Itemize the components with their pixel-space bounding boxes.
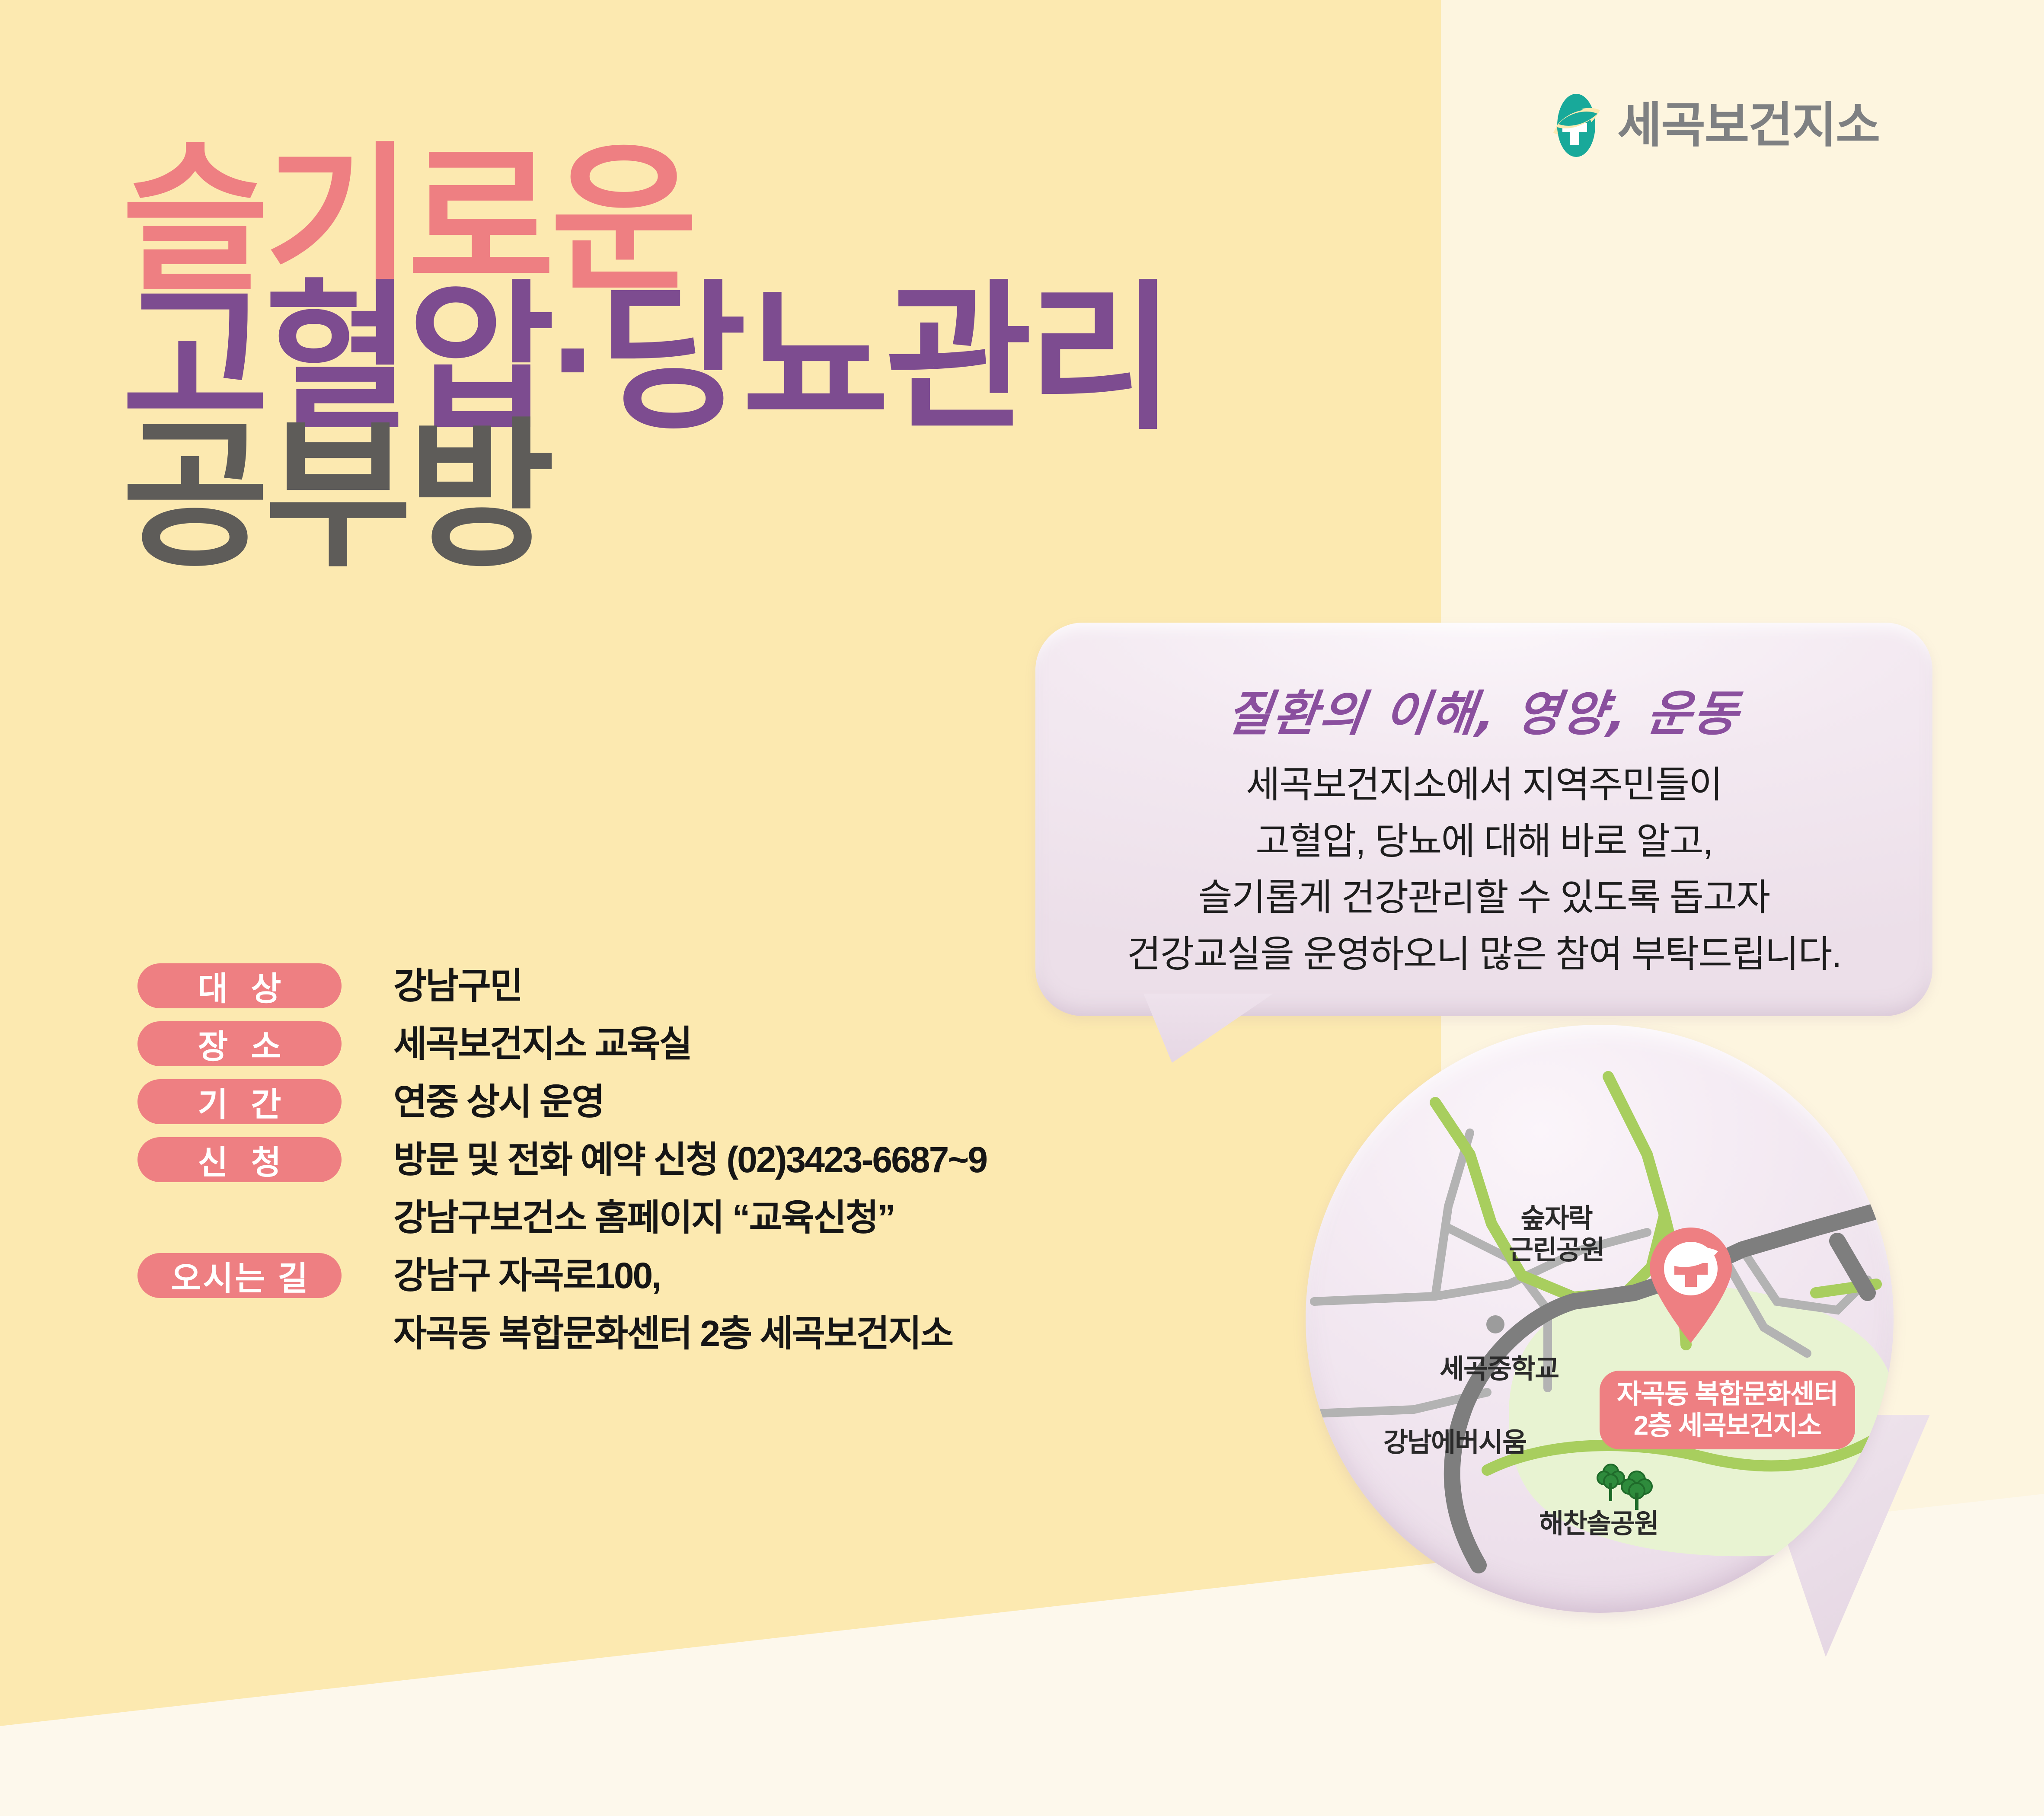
info-row-apply: 신 청 방문 및 전화 예약 신청 (02)3423-6687~9 (137, 1137, 987, 1184)
bubble-heading: 질환의 이해, 영양, 운동 (1031, 675, 1937, 745)
map-label-supjarak-park: 숲자락 근린공원 (1509, 1203, 1604, 1266)
info-label-target: 대 상 (137, 963, 342, 1008)
bubble-body-line: 슬기롭게 건강관리할 수 있도록 돕고자 (1035, 870, 1932, 926)
map-label-gangnam-eversium: 강남에버시움 (1383, 1427, 1526, 1458)
map-callout-line2: 2층 세곡보건지소 (1617, 1410, 1838, 1442)
brand-logo-row: 세곡보건지소 (1550, 93, 1879, 158)
bubble-body-line: 고혈압, 당뇨에 대해 바로 알고, (1035, 813, 1932, 870)
info-value-target: 강남구민 (393, 963, 522, 1008)
map-label-segok-middle-school: 세곡중학교 (1440, 1353, 1559, 1385)
info-value-apply: 방문 및 전화 예약 신청 (02)3423-6687~9 (393, 1137, 987, 1182)
poster-title: 슬기로운 고혈압·당뇨관리 공부방 (122, 143, 1171, 575)
map-callout-destination: 자곡동 복합문화센터 2층 세곡보건지소 (1600, 1371, 1855, 1449)
info-value-period: 연중 상시 운영 (393, 1079, 604, 1124)
map-bubble-body: 숲자락 근린공원 세곡중학교 강남에버시움 해찬솔공원 (1306, 1025, 1894, 1613)
info-value-directions-extra: 자곡동 복합문화센터 2층 세곡보건지소 (393, 1311, 952, 1356)
info-label-directions: 오시는 길 (137, 1253, 342, 1298)
map-label-supjarak-line1: 숲자락 (1509, 1203, 1604, 1234)
bubble-body-line: 건강교실을 운영하오니 많은 참여 부탁드립니다. (1035, 926, 1932, 983)
info-row-directions: 오시는 길 강남구 자곡로100, (137, 1253, 987, 1300)
info-row-target: 대 상 강남구민 (137, 963, 987, 1010)
school-marker-dot (1486, 1315, 1504, 1333)
bubble-body: 세곡보건지소에서 지역주민들이 고혈압, 당뇨에 대해 바로 알고, 슬기롭게 … (1035, 757, 1932, 983)
info-label-spacer (137, 1311, 342, 1356)
program-info-list: 대 상 강남구민 장 소 세곡보건지소 교육실 기 간 연중 상시 운영 신 청… (137, 963, 987, 1369)
map-label-supjarak-line2: 근린공원 (1509, 1234, 1604, 1266)
location-map: 숲자락 근린공원 세곡중학교 강남에버시움 해찬솔공원 (1306, 1025, 1941, 1665)
poster-canvas: 세곡보건지소 슬기로운 고혈압·당뇨관리 공부방 질환의 이해, 영양, 운동 … (0, 0, 2044, 1816)
info-label-period: 기 간 (137, 1079, 342, 1124)
info-label-spacer (137, 1195, 342, 1240)
brand-name: 세곡보건지소 (1617, 101, 1879, 150)
health-center-cross-logo-icon (1550, 93, 1603, 158)
info-row-period: 기 간 연중 상시 운영 (137, 1079, 987, 1126)
info-row-place: 장 소 세곡보건지소 교육실 (137, 1021, 987, 1068)
two-trees-icon (1591, 1457, 1660, 1513)
info-value-place: 세곡보건지소 교육실 (393, 1021, 691, 1066)
intro-speech-bubble: 질환의 이해, 영양, 운동 세곡보건지소에서 지역주민들이 고혈압, 당뇨에 … (1035, 623, 1932, 1016)
info-value-apply-extra: 강남구보건소 홈페이지 “교육신청” (393, 1195, 894, 1240)
bubble-body-line: 세곡보건지소에서 지역주민들이 (1035, 757, 1932, 813)
info-row-directions-extra: 자곡동 복합문화센터 2층 세곡보건지소 (137, 1311, 987, 1358)
info-label-place: 장 소 (137, 1021, 342, 1066)
info-label-apply: 신 청 (137, 1137, 342, 1182)
info-value-directions: 강남구 자곡로100, (393, 1253, 661, 1298)
map-pin-health-center-icon (1645, 1227, 1736, 1344)
info-row-apply-extra: 강남구보건소 홈페이지 “교육신청” (137, 1195, 987, 1242)
map-callout-line1: 자곡동 복합문화센터 (1617, 1378, 1838, 1410)
